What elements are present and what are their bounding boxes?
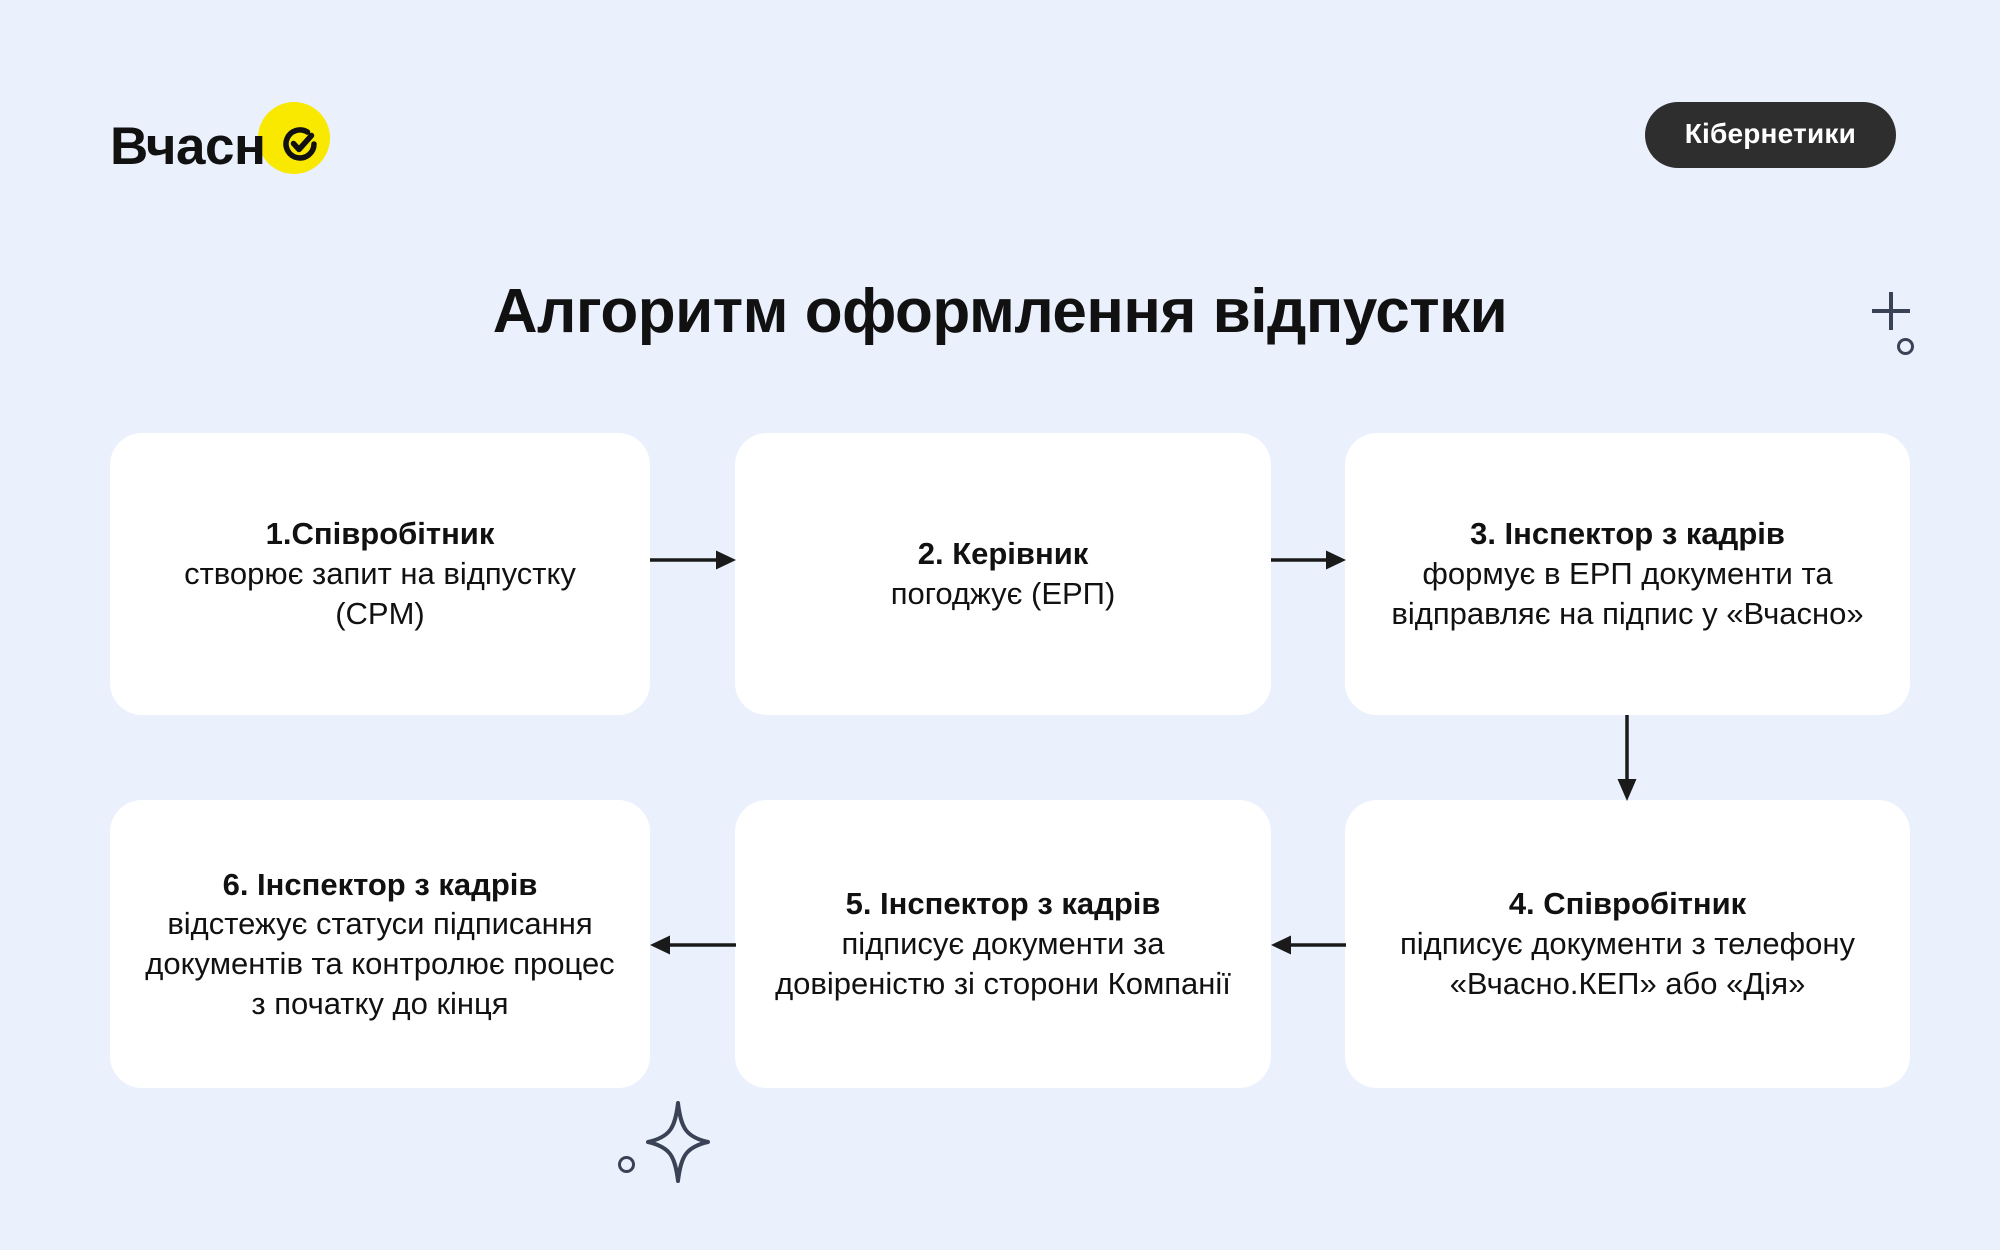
check-circle-icon [280, 124, 320, 164]
brand-logo: Вчасн [110, 106, 268, 186]
flow-step-card-5[interactable]: 5. Інспектор з кадрів підписує документи… [735, 800, 1271, 1088]
ring-icon [1897, 338, 1914, 355]
arrow-left-icon [650, 930, 736, 960]
status-badge[interactable]: Кібернетики [1645, 102, 1896, 168]
arrow-down-icon [1612, 715, 1642, 801]
arrow-left-icon [1271, 930, 1346, 960]
flow-step-body: підписує документи з телефону «Вчасно.КЕ… [1379, 924, 1876, 1003]
flow-step-title: 2. Керівник [918, 534, 1089, 574]
brand-wordmark: Вчасн [110, 120, 268, 173]
flow-step-title: 6. Інспектор з кадрів [223, 865, 538, 905]
flow-step-title: 4. Співробітник [1509, 884, 1746, 924]
infographic-canvas: Вчасн Кібернетики Алгоритм оформлення ві… [0, 0, 2000, 1250]
flow-step-body: підписує документи за довіреністю зі сто… [769, 924, 1237, 1003]
plus-icon [1872, 292, 1910, 330]
arrow-right-icon [650, 545, 736, 575]
sparkle-icon [645, 1100, 711, 1184]
flow-step-card-6[interactable]: 6. Інспектор з кадрів відстежує статуси … [110, 800, 650, 1088]
page-title: Алгоритм оформлення відпустки [0, 276, 2000, 347]
flow-step-card-4[interactable]: 4. Співробітник підписує документи з тел… [1345, 800, 1910, 1088]
flow-step-title: 5. Інспектор з кадрів [846, 884, 1161, 924]
flow-step-body: створює запит на відпустку (CPM) [144, 554, 616, 633]
flow-step-body: відстежує статуси підписання документів … [144, 904, 616, 1023]
flow-step-title: 1.Співробітник [266, 514, 495, 554]
flow-step-body: погоджує (ЕРП) [891, 574, 1116, 614]
flow-step-card-1[interactable]: 1.Співробітник створює запит на відпустк… [110, 433, 650, 715]
flow-step-title: 3. Інспектор з кадрів [1470, 514, 1785, 554]
flow-step-card-2[interactable]: 2. Керівник погоджує (ЕРП) [735, 433, 1271, 715]
arrow-right-icon [1271, 545, 1346, 575]
flow-step-card-3[interactable]: 3. Інспектор з кадрів формує в ЕРП докум… [1345, 433, 1910, 715]
flow-step-body: формує в ЕРП документи та відправляє на … [1379, 554, 1876, 633]
ring-icon [618, 1156, 635, 1173]
